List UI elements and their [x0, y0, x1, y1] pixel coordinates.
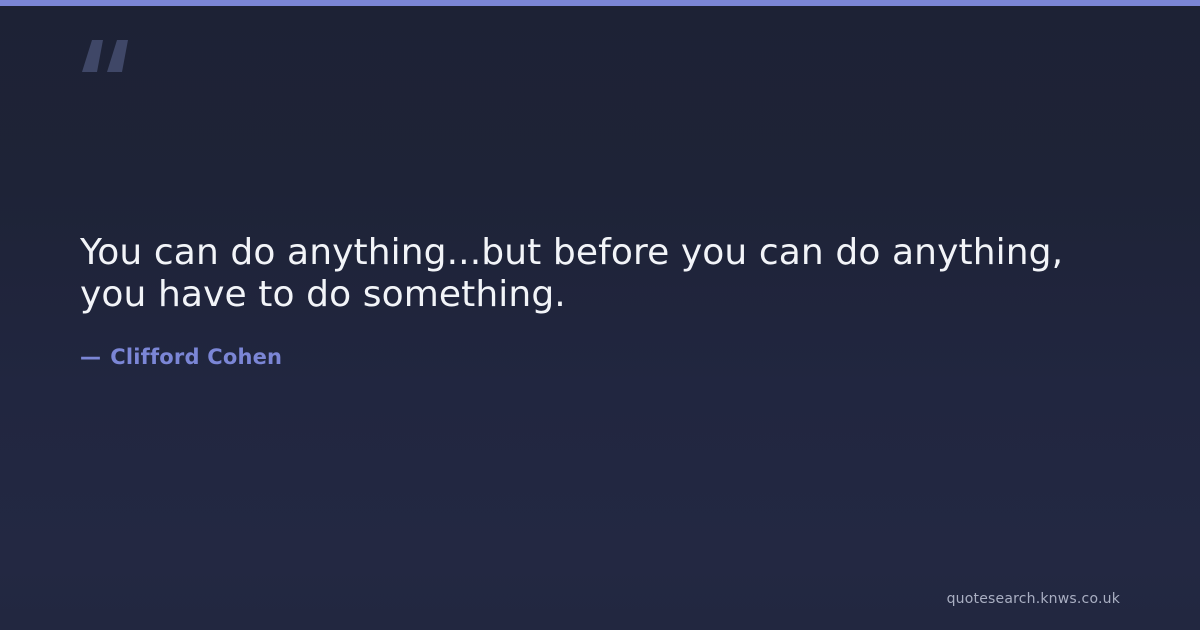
top-accent-bar — [0, 0, 1200, 6]
double-quote-open-icon — [78, 28, 138, 88]
quote-text-line-1: You can do anything...but before you can… — [80, 232, 1063, 273]
footer-site-url: quotesearch.knws.co.uk — [947, 590, 1120, 608]
attribution-author: Clifford Cohen — [110, 344, 282, 370]
quote-text: You can do anything...but before you can… — [80, 232, 1120, 316]
quote-attribution: — Clifford Cohen — [80, 316, 1120, 370]
quote-text-line-2: you have to do something. — [80, 274, 566, 315]
attribution-dash: — — [80, 344, 101, 370]
quote-content: You can do anything...but before you can… — [80, 232, 1120, 370]
quote-card: You can do anything...but before you can… — [0, 0, 1200, 630]
